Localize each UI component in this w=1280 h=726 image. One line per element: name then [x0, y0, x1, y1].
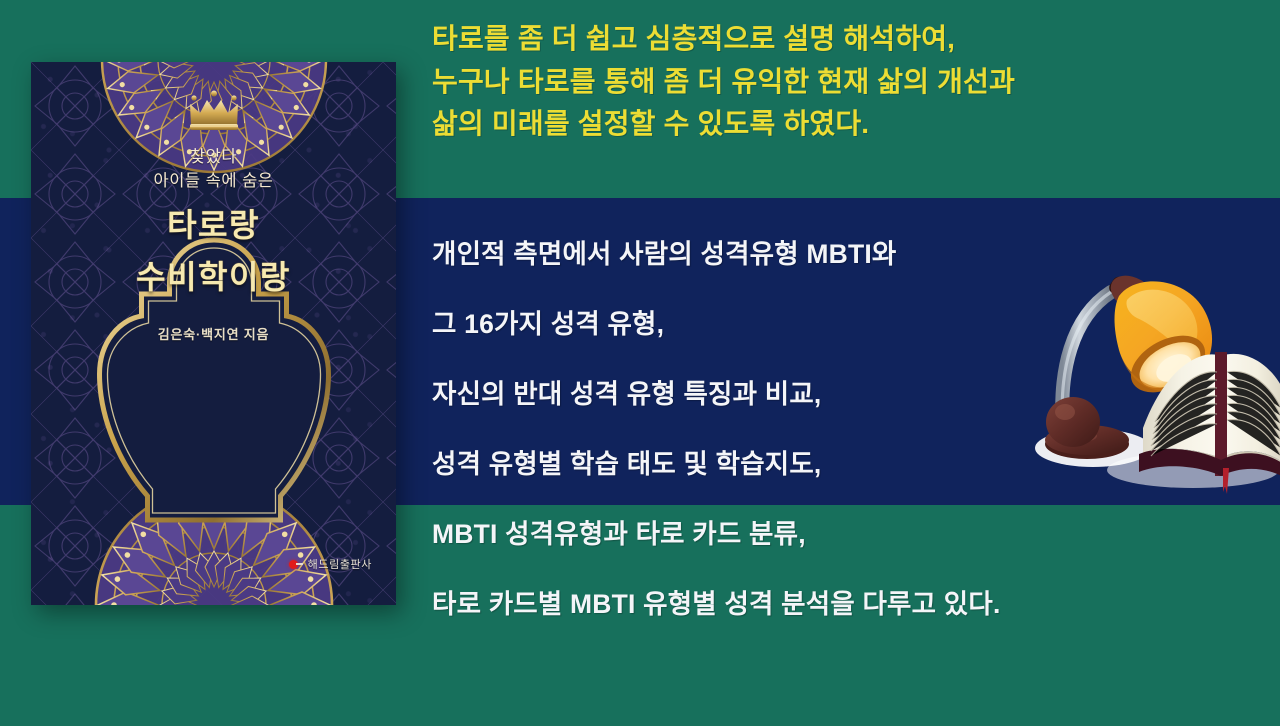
publisher-name: 해드림출판사: [308, 556, 372, 572]
book-cover-text: 찾았다 아이들 속에 숨은 타로랑 수비학이랑 김은숙·백지연 지음: [31, 146, 396, 343]
contents-line: 타로 카드별 MBTI 유형별 성격 분석을 다루고 있다.: [432, 582, 1262, 652]
book-cover: 찾았다 아이들 속에 숨은 타로랑 수비학이랑 김은숙·백지연 지음 해드림출판…: [31, 62, 396, 605]
crown-icon: [184, 88, 244, 134]
publisher-logo-icon: [289, 560, 298, 569]
book-subtitle-line-2: 아이들 속에 숨은: [31, 170, 396, 194]
lamp-base-icon: [1045, 397, 1129, 459]
intro-line: 누구나 타로를 통해 좀 더 유익한 현재 삶의 개선과: [432, 61, 1262, 104]
book-subtitle-line-1: 찾았다: [31, 146, 396, 170]
book-title-line-1: 타로랑: [31, 205, 396, 246]
intro-line: 타로를 좀 더 쉽고 심층적으로 설명 해석하여,: [432, 18, 1262, 61]
contents-line: MBTI 성격유형과 타로 카드 분류,: [432, 512, 1262, 582]
book-title-line-2: 수비학이랑: [31, 257, 396, 298]
intro-line: 삶의 미래를 설정할 수 있도록 하였다.: [432, 103, 1262, 146]
book-authors: 김은숙·백지연 지음: [31, 324, 396, 343]
intro-paragraph: 타로를 좀 더 쉽고 심층적으로 설명 해석하여, 누구나 타로를 통해 좀 더…: [432, 18, 1262, 146]
publisher-mark: 해드림출판사: [289, 556, 372, 572]
desk-lamp-and-open-book-illustration: [1015, 222, 1280, 505]
